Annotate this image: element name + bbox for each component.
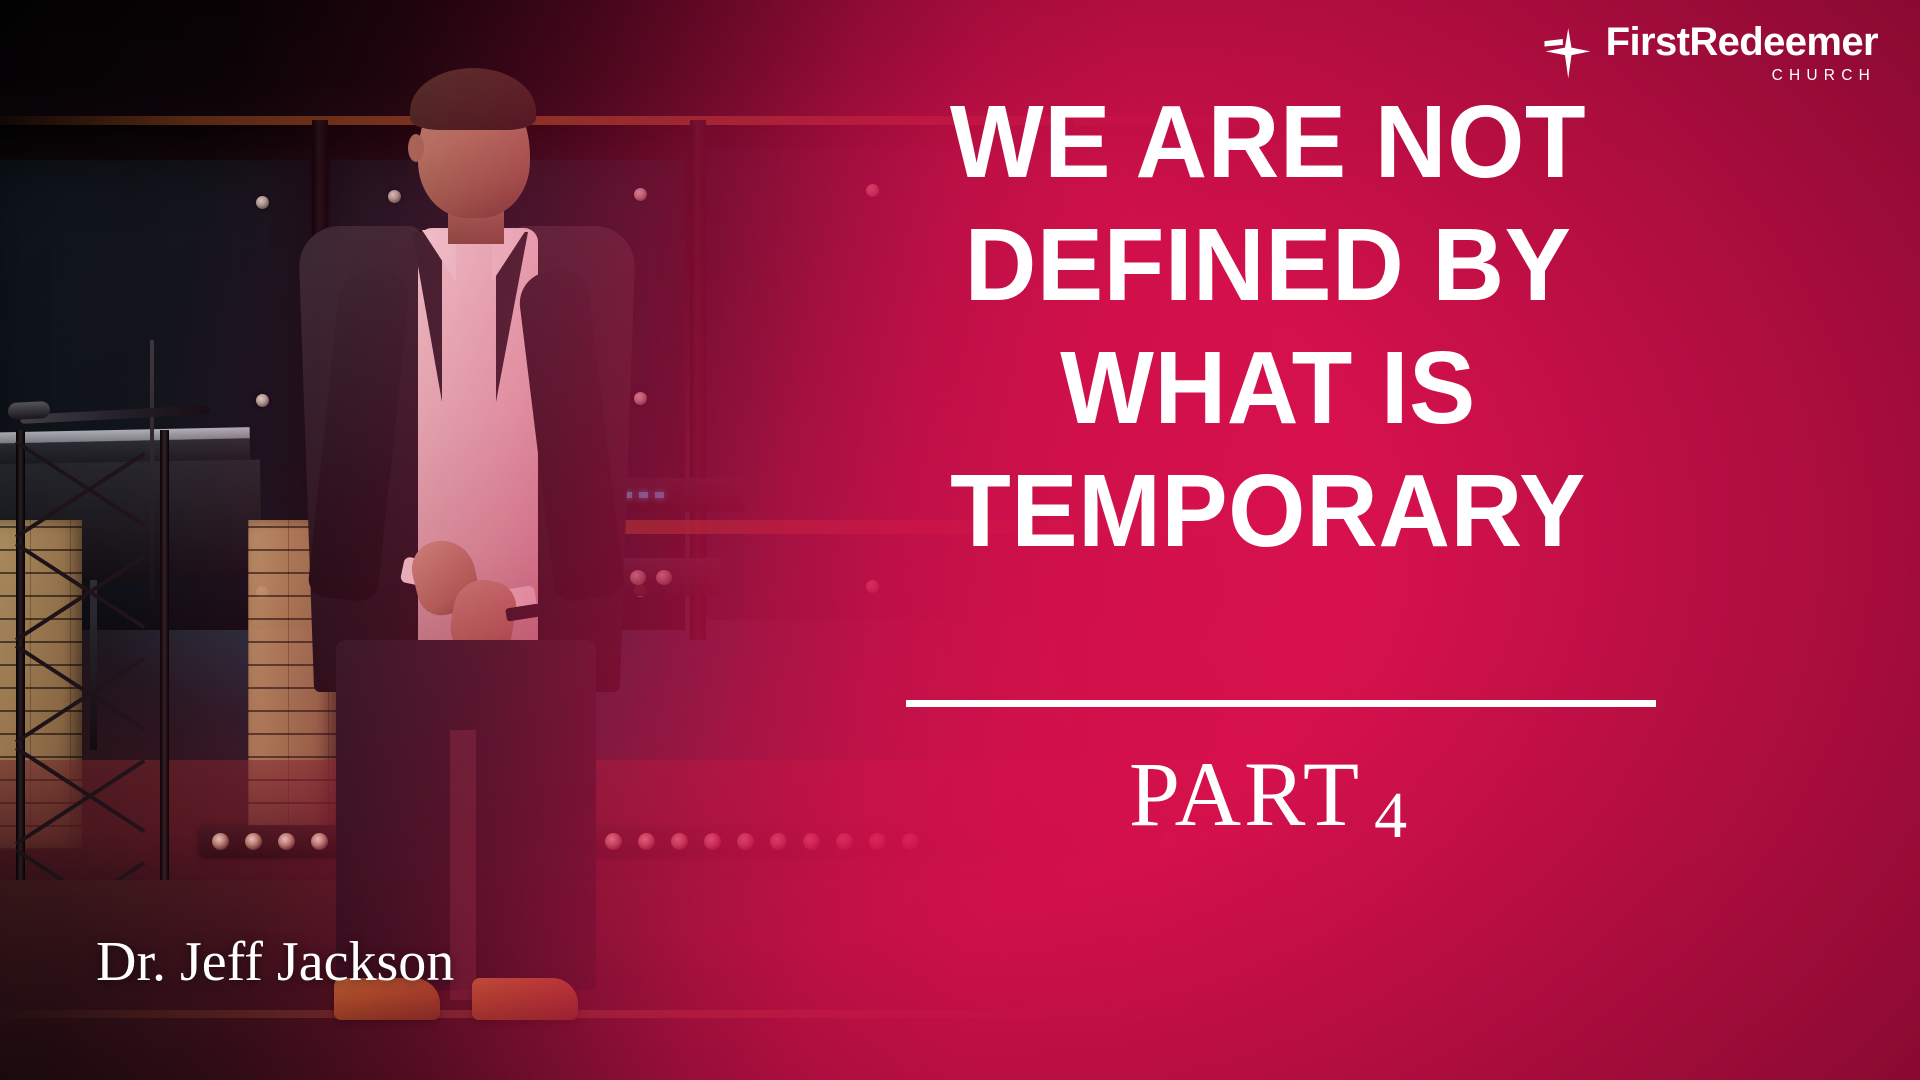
speaker-name: Dr. Jeff Jackson <box>96 934 454 990</box>
title-divider <box>906 700 1656 707</box>
title-line-4: TEMPORARY <box>882 461 1654 562</box>
title-line-1: WE ARE NOT <box>882 92 1654 193</box>
title-line-3: WHAT IS <box>882 338 1654 439</box>
church-logo: FirstRedeemer CHURCH <box>1538 22 1878 84</box>
logo-wordmark: FirstRedeemer CHURCH <box>1606 22 1878 84</box>
logo-subtitle: CHURCH <box>1772 68 1876 84</box>
logo-name: FirstRedeemer <box>1606 22 1878 62</box>
four-pointed-star-cross-icon <box>1538 26 1592 80</box>
series-part-label: PART <box>1129 743 1362 845</box>
series-part: PART4 <box>868 748 1668 840</box>
series-part-number: 4 <box>1374 779 1407 852</box>
sermon-title: WE ARE NOT DEFINED BY WHAT IS TEMPORARY <box>868 92 1668 562</box>
title-line-2: DEFINED BY <box>882 215 1654 316</box>
sermon-title-slide: FirstRedeemer CHURCH WE ARE NOT DEFINED … <box>0 0 1920 1080</box>
